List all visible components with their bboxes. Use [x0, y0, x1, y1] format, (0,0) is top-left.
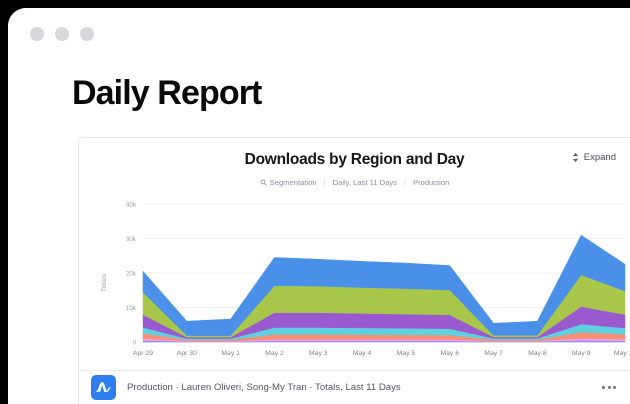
more-horizontal-icon[interactable]	[602, 386, 618, 389]
stacked-area-chart[interactable]: 010k20k30k40kApr 29Apr 30May 1May 2May 3…	[79, 196, 630, 371]
svg-text:May 6: May 6	[440, 350, 459, 357]
segmentation-chip[interactable]: Segmentation	[260, 178, 317, 187]
subtitle-separator-1: |	[324, 178, 326, 187]
svg-text:May 1: May 1	[221, 350, 240, 357]
window-titlebar	[8, 8, 630, 60]
expand-button[interactable]: Expand	[571, 152, 616, 163]
chart-plot-area: Totals 010k20k30k40kApr 29Apr 30May 1May…	[79, 196, 630, 371]
subtitle-separator-2: |	[404, 178, 406, 187]
svg-text:May 8: May 8	[528, 350, 547, 357]
segmentation-label: Segmentation	[270, 178, 317, 187]
svg-text:May 2: May 2	[265, 350, 284, 357]
screenshot-root: Daily Report Downloads by Region and Day…	[0, 0, 630, 404]
expand-label: Expand	[584, 152, 616, 163]
chart-title: Downloads by Region and Day	[79, 151, 630, 169]
svg-text:May 4: May 4	[353, 350, 372, 357]
chart-subtitle: Segmentation | Daily, Last 11 Days | Pro…	[79, 178, 630, 187]
svg-text:May 10: May 10	[614, 350, 630, 357]
svg-text:May 5: May 5	[397, 350, 416, 357]
svg-text:30k: 30k	[126, 236, 137, 243]
svg-text:40k: 40k	[126, 201, 137, 208]
date-range-label[interactable]: Daily, Last 11 Days	[333, 178, 397, 187]
svg-text:May 9: May 9	[572, 350, 591, 357]
svg-text:Apr 30: Apr 30	[177, 350, 197, 357]
amplitude-glyph-icon	[95, 379, 112, 396]
browser-window: Daily Report Downloads by Region and Day…	[8, 8, 630, 404]
svg-text:May 7: May 7	[484, 350, 503, 357]
svg-text:20k: 20k	[126, 270, 137, 277]
traffic-light-close-icon[interactable]	[30, 27, 44, 41]
page-title: Daily Report	[72, 76, 261, 110]
chart-card: Downloads by Region and Day Segmentation…	[78, 137, 630, 404]
environment-label[interactable]: Production	[413, 178, 449, 187]
traffic-light-minimize-icon[interactable]	[55, 27, 69, 41]
svg-text:May 3: May 3	[309, 350, 328, 357]
amplitude-logo-icon	[91, 375, 116, 400]
footer-description: Production · Lauren Oliveri, Song-My Tra…	[127, 382, 401, 393]
chart-card-footer: Production · Lauren Oliveri, Song-My Tra…	[79, 370, 630, 404]
traffic-light-maximize-icon[interactable]	[80, 27, 94, 41]
svg-text:Apr 29: Apr 29	[133, 350, 153, 357]
y-axis-label: Totals	[101, 274, 108, 292]
chart-card-header: Downloads by Region and Day Segmentation…	[79, 138, 630, 196]
svg-text:10k: 10k	[126, 305, 137, 312]
chevron-up-down-icon	[571, 152, 580, 163]
segmentation-icon	[260, 179, 267, 186]
svg-text:0: 0	[132, 339, 136, 346]
